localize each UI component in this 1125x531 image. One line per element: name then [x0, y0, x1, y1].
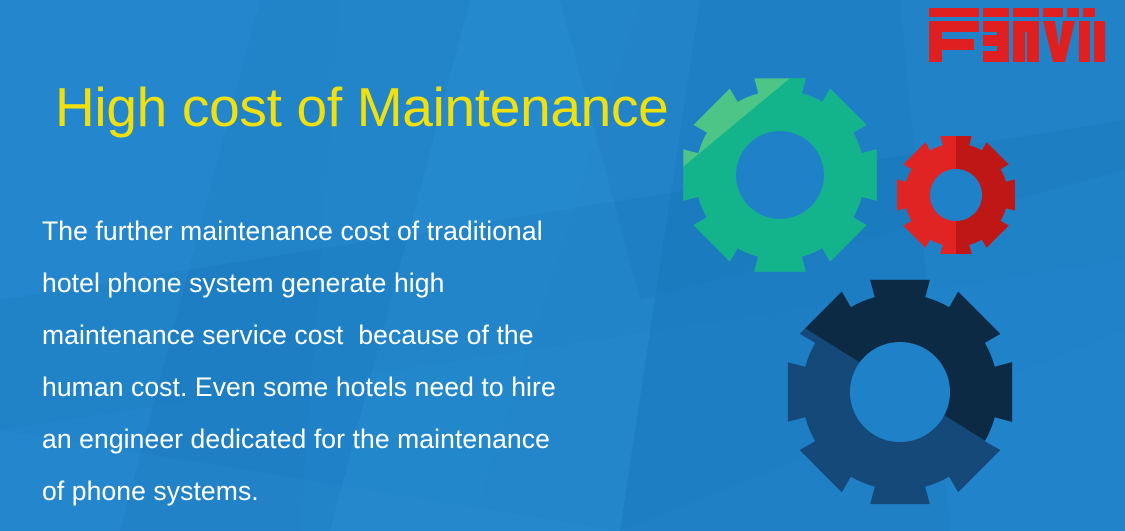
- body-paragraph: The further maintenance cost of traditio…: [42, 205, 642, 517]
- page-title: High cost of Maintenance: [55, 74, 668, 140]
- fanvil-logo-icon: [919, 6, 1111, 62]
- body-line: human cost. Even some hotels need to hir…: [42, 361, 642, 413]
- body-line: hotel phone system generate high: [42, 257, 642, 309]
- body-line: maintenance service cost because of the: [42, 309, 642, 361]
- body-line: an engineer dedicated for the maintenanc…: [42, 413, 642, 465]
- slide-canvas: High cost of Maintenance The further mai…: [0, 0, 1125, 531]
- body-line: The further maintenance cost of traditio…: [42, 205, 642, 257]
- body-line: of phone systems.: [42, 465, 642, 517]
